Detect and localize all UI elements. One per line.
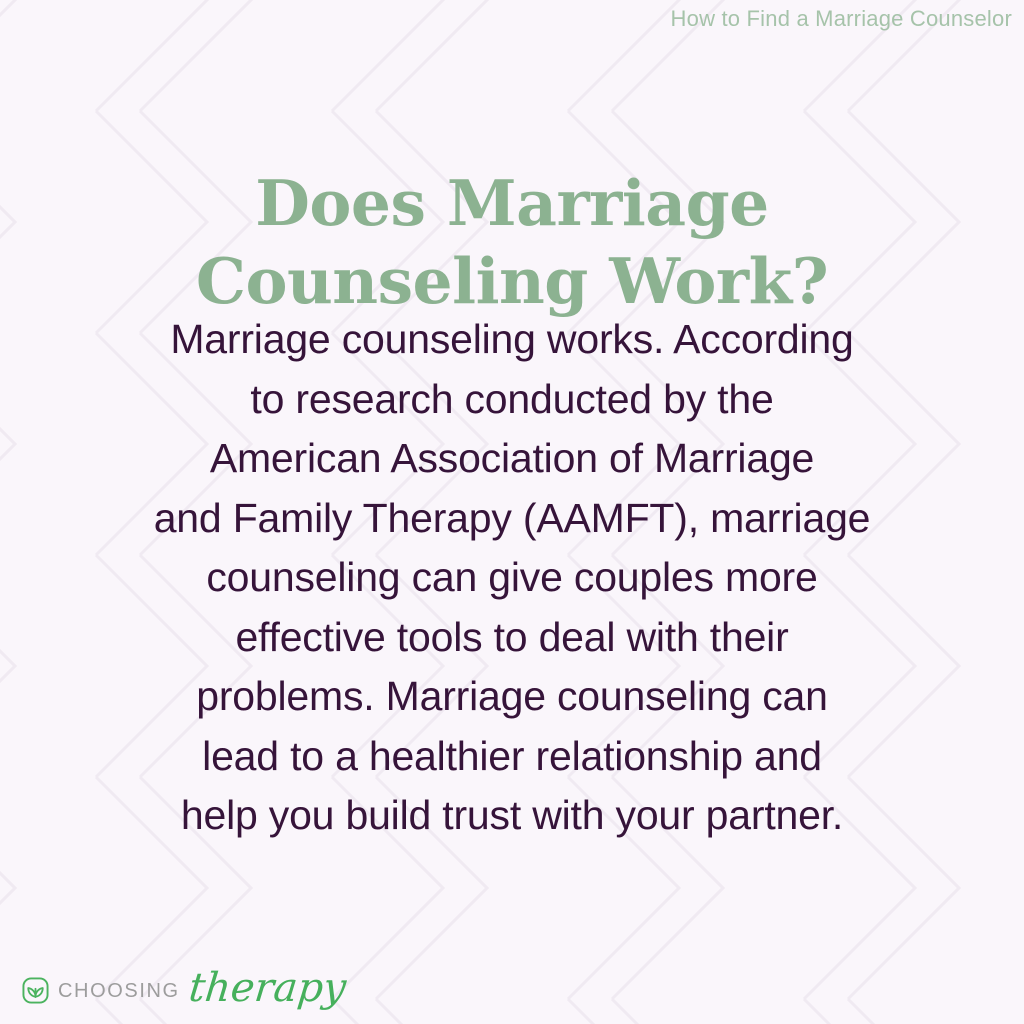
page-title: Does Marriage Counseling Work?	[0, 164, 1024, 320]
body-line: problems. Marriage counseling can	[118, 667, 906, 727]
body-line: effective tools to deal with their	[118, 608, 906, 668]
logo-script-wordmark: therapy	[187, 968, 348, 1008]
body-line: counseling can give couples more	[118, 548, 906, 608]
body-line: Marriage counseling works. According	[118, 310, 906, 370]
page-title-line-1: Does Marriage	[0, 164, 1024, 242]
body-line: American Association of Marriage	[118, 429, 906, 489]
body-line: and Family Therapy (AAMFT), marriage	[118, 489, 906, 549]
page-title-line-2: Counseling Work?	[0, 242, 1024, 320]
infographic-card: How to Find a Marriage Counselor Does Ma…	[0, 0, 1024, 1024]
leaf-logo-icon	[22, 977, 49, 1004]
body-line: lead to a healthier relationship and	[118, 727, 906, 787]
logo-wordmark: CHOOSING	[58, 981, 180, 1001]
body-line: help you build trust with your partner.	[118, 786, 906, 846]
article-title-label: How to Find a Marriage Counselor	[671, 6, 1012, 32]
body-line: to research conducted by the	[118, 370, 906, 430]
choosing-therapy-logo: CHOOSING therapy	[22, 970, 343, 1010]
body-paragraph: Marriage counseling works. According to …	[118, 310, 906, 846]
